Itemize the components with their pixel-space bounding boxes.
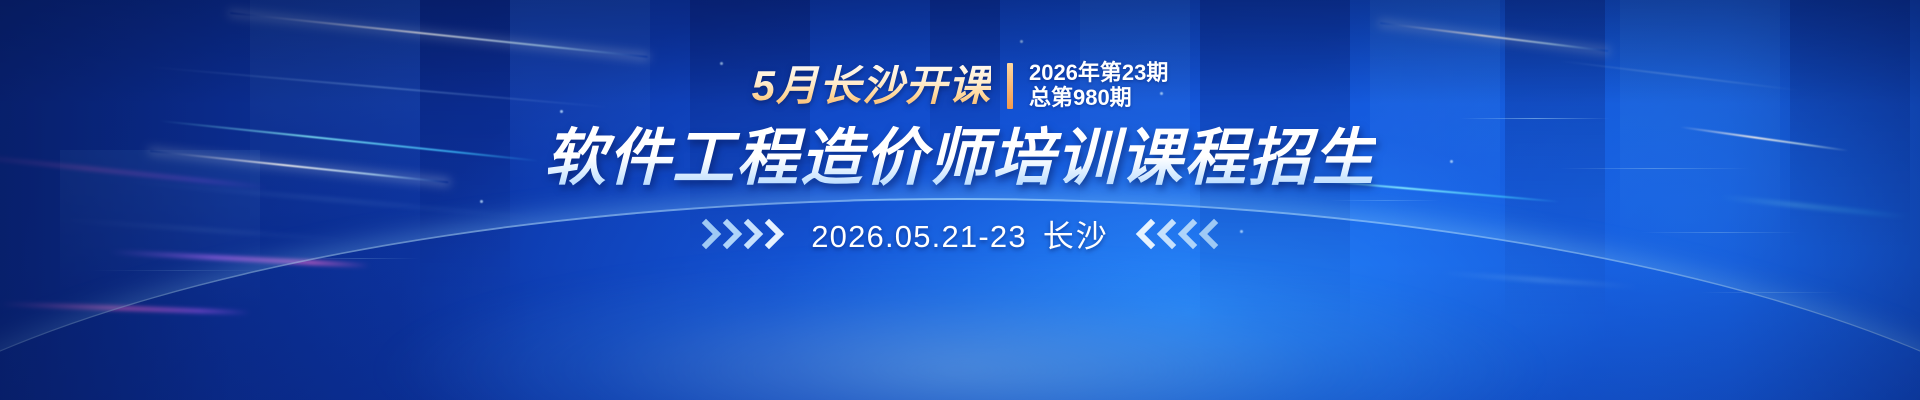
page-title: 软件工程造价师培训课程招生	[544, 124, 1376, 193]
kicker-text: 5月长沙开课	[752, 65, 991, 107]
event-city: 长沙	[1043, 219, 1109, 254]
promo-banner: 5月长沙开课 2026年第23期 总第980期 软件工程造价师培训课程招生 20…	[0, 0, 1920, 400]
issue-line-1: 2026年第23期	[1029, 61, 1168, 86]
double-chevron-right-icon	[701, 217, 793, 251]
banner-content: 5月长沙开课 2026年第23期 总第980期 软件工程造价师培训课程招生 20…	[0, 0, 1920, 400]
double-chevron-left-icon	[1127, 217, 1219, 251]
date-location-text: 2026.05.21-23长沙	[811, 211, 1109, 256]
vertical-divider-bar	[1007, 63, 1013, 109]
issue-info: 2026年第23期 总第980期	[1029, 61, 1168, 110]
dateline-row: 2026.05.21-23长沙	[701, 211, 1219, 256]
issue-line-2: 总第980期	[1029, 86, 1168, 111]
kicker-row: 5月长沙开课 2026年第23期 总第980期	[752, 58, 1169, 114]
event-date: 2026.05.21-23	[811, 219, 1027, 254]
